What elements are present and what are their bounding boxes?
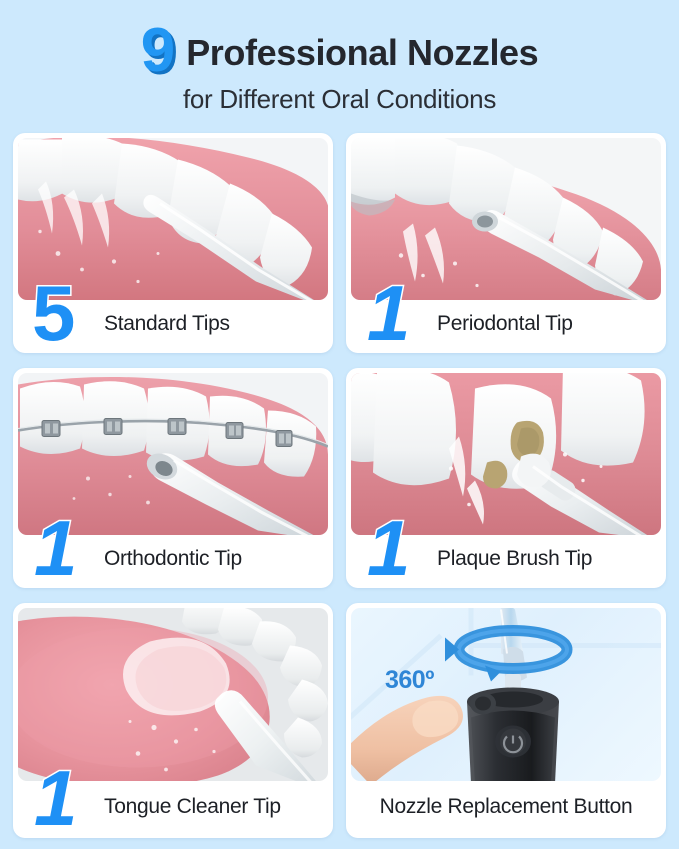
card-periodontal-tip[interactable]: 1 Periodontal Tip [346,133,666,353]
card-nozzle-replacement-button[interactable]: 360º [346,603,666,838]
page-subtitle: for Different Oral Conditions [183,84,496,115]
nozzle-card-grid: 5 Standard Tips [13,133,666,838]
card-label-standard-tips: Standard Tips [104,312,230,336]
illustration-periodontal-tip [351,138,661,300]
orthodontic-tip-scene-icon [18,373,328,535]
plaque-brush-tip-scene-icon [351,373,661,535]
card-label-plaque-brush-tip: Plaque Brush Tip [437,547,592,571]
card-label-orthodontic-tip: Orthodontic Tip [104,547,242,571]
nozzle-count-number: 9 [141,20,174,82]
card-orthodontic-tip[interactable]: 1 Orthodontic Tip [13,368,333,588]
card-plaque-brush-tip[interactable]: 1 Plaque Brush Tip [346,368,666,588]
card-label-periodontal-tip: Periodontal Tip [437,312,573,336]
title-row: 9 Professional Nozzles [141,14,539,76]
illustration-standard-tips [18,138,328,300]
card-standard-tips[interactable]: 5 Standard Tips [13,133,333,353]
label-bar-tongue-cleaner-tip: 1 Tongue Cleaner Tip [18,781,328,833]
periodontal-tip-scene-icon [351,138,661,300]
standard-tip-scene-icon [18,138,328,300]
tongue-cleaner-tip-scene-icon [18,608,328,781]
label-bar-nozzle-replacement: Nozzle Replacement Button [351,781,661,833]
illustration-nozzle-replacement: 360º [351,608,661,781]
label-bar-plaque-brush-tip: 1 Plaque Brush Tip [351,535,661,583]
card-tongue-cleaner-tip[interactable]: 1 Tongue Cleaner Tip [13,603,333,838]
label-bar-periodontal-tip: 1 Periodontal Tip [351,300,661,348]
illustration-orthodontic-tip [18,373,328,535]
illustration-tongue-cleaner-tip [18,608,328,781]
card-label-nozzle-replacement: Nozzle Replacement Button [380,795,633,819]
illustration-plaque-brush-tip [351,373,661,535]
page-title: Professional Nozzles [186,35,538,71]
infographic-page: 9 Professional Nozzles for Different Ora… [0,0,679,849]
page-header: 9 Professional Nozzles for Different Ora… [0,0,679,125]
label-bar-standard-tips: 5 Standard Tips [18,300,328,348]
rotation-degree-label: 360º [385,666,434,695]
label-bar-orthodontic-tip: 1 Orthodontic Tip [18,535,328,583]
card-label-tongue-cleaner-tip: Tongue Cleaner Tip [104,795,281,819]
